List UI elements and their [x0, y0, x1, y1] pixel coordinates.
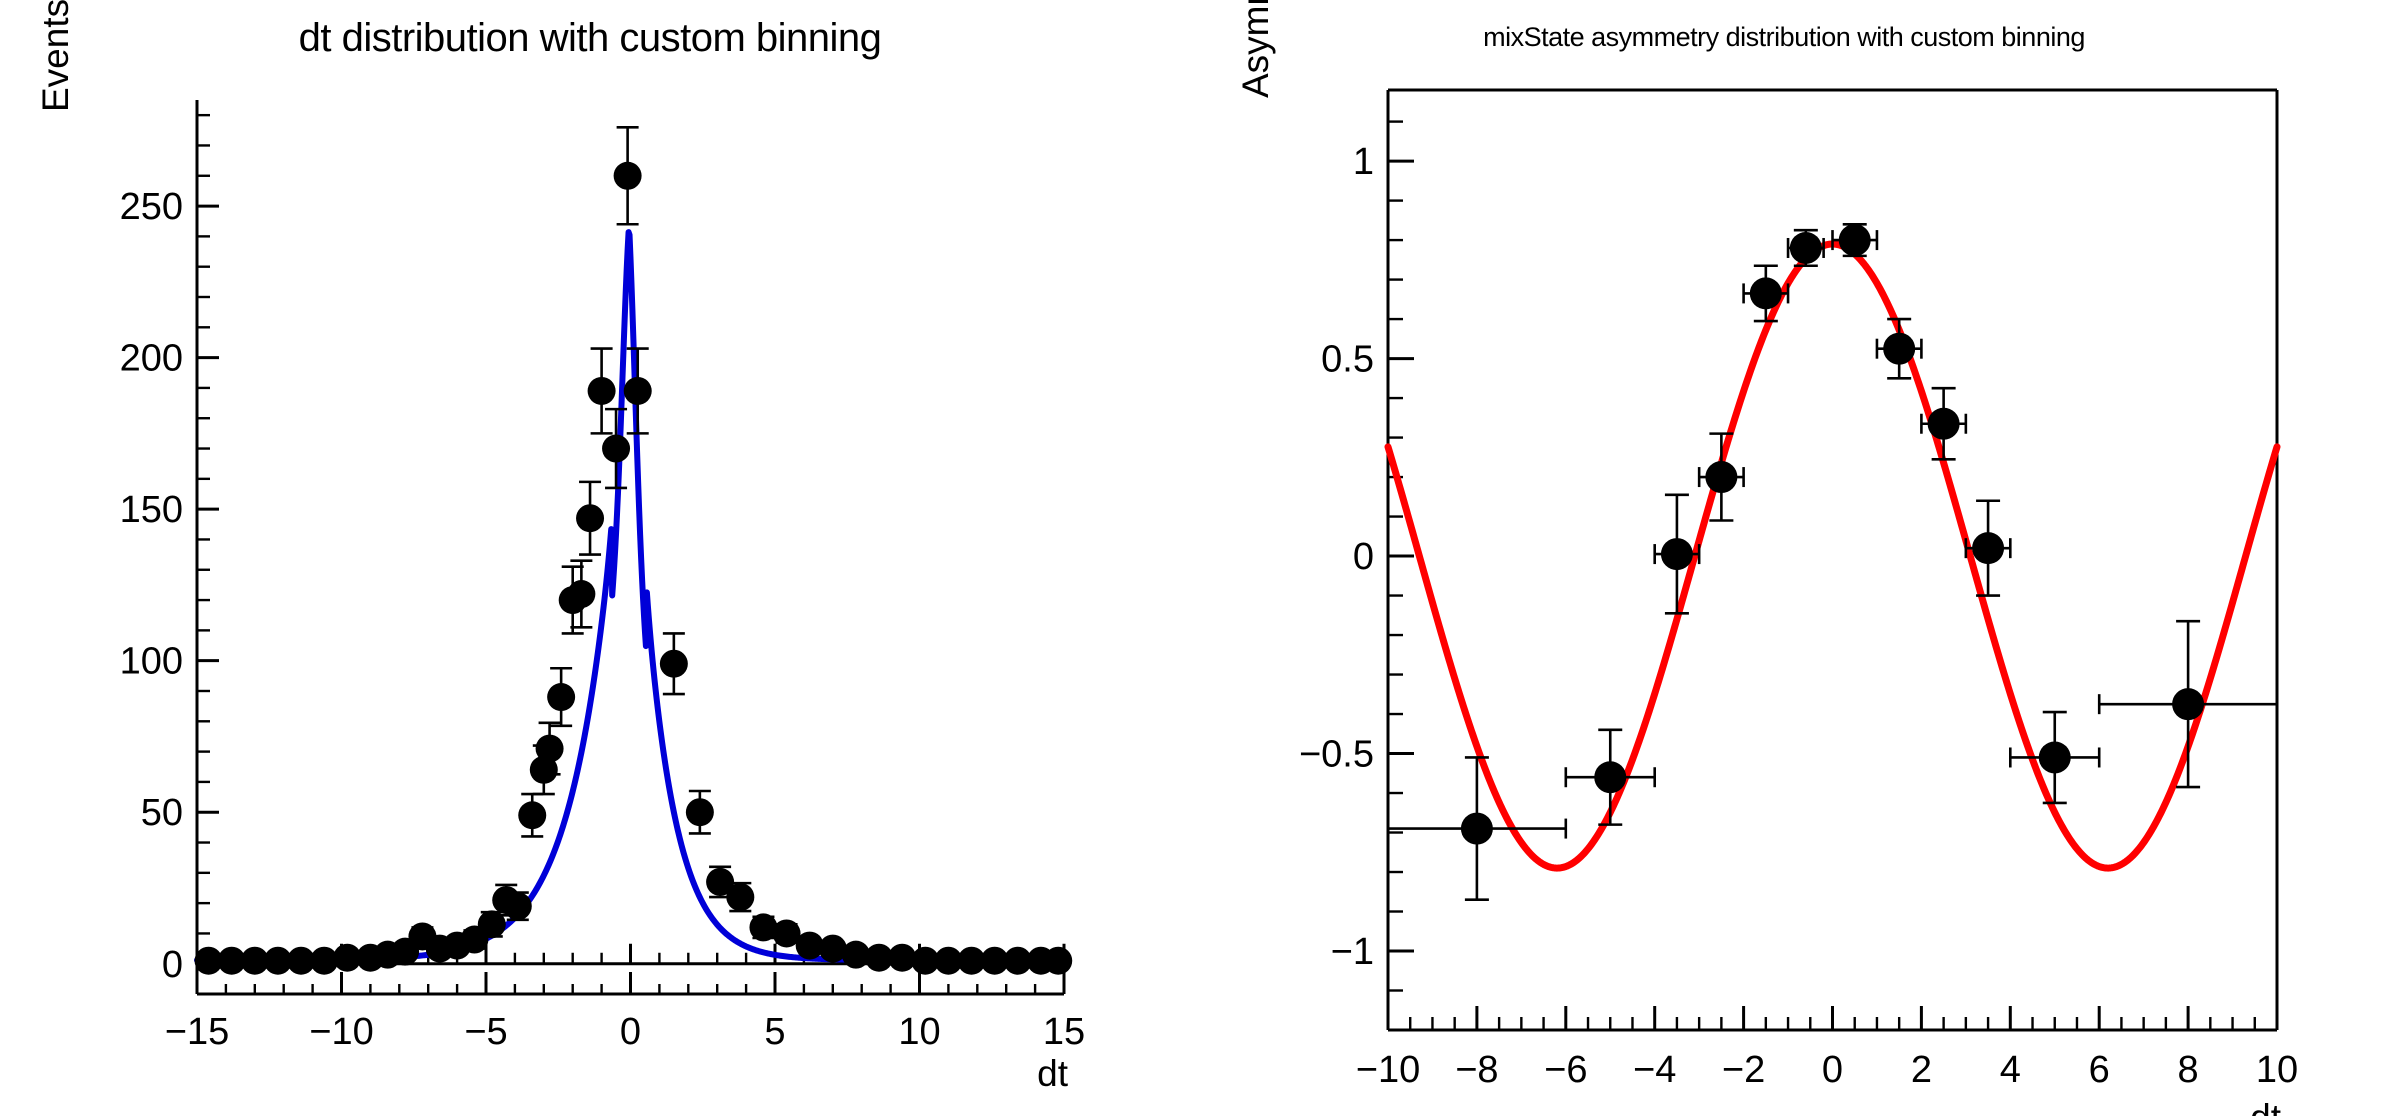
y-tick-label: 0: [162, 944, 183, 986]
data-point: [624, 349, 652, 434]
x-tick-label: −5: [464, 1011, 507, 1053]
x-tick-label: 2: [1911, 1049, 1932, 1091]
y-tick-label: 100: [120, 641, 183, 683]
x-tick-label: −10: [309, 1011, 373, 1053]
left-fit-curve: [197, 232, 1064, 960]
x-tick-label: 0: [620, 1011, 641, 1053]
data-point: [1788, 230, 1824, 266]
x-axis-title: dt: [2250, 1097, 2282, 1116]
data-point: [1388, 757, 1566, 899]
left-axis-labels: 050100150200250−15−10−5051015dtEvents / …: [35, 0, 1085, 1094]
data-point: [1833, 224, 1877, 256]
x-tick-label: −2: [1722, 1049, 1765, 1091]
y-tick-label: −1: [1331, 931, 1374, 973]
data-point: [588, 349, 616, 434]
x-tick-label: 0: [1822, 1049, 1843, 1091]
data-point: [518, 794, 546, 836]
x-tick-label: −10: [1356, 1049, 1420, 1091]
x-tick-label: 8: [2178, 1049, 2199, 1091]
dt-distribution-plot: 050100150200250−15−10−5051015dtEvents / …: [0, 0, 1180, 1116]
x-axis-title: dt: [1037, 1053, 1069, 1094]
x-tick-label: 4: [2000, 1049, 2021, 1091]
y-tick-label: 1: [1353, 141, 1374, 183]
data-point: [1921, 388, 1965, 459]
y-axis-title: Asymmetry in mixState: [1235, 0, 1276, 98]
y-tick-label: 150: [120, 489, 183, 531]
y-tick-label: 250: [120, 186, 183, 228]
mixstate-asymmetry-panel: mixState asymmetry distribution with cus…: [1180, 0, 2388, 1116]
left-data-points: [195, 127, 1073, 974]
data-point: [1744, 266, 1788, 321]
data-point: [547, 668, 575, 726]
x-tick-label: 10: [898, 1011, 940, 1053]
y-tick-label: 200: [120, 338, 183, 380]
right-data-points: [1388, 224, 2277, 900]
x-tick-label: −6: [1544, 1049, 1587, 1091]
x-tick-label: 6: [2089, 1049, 2110, 1091]
right-fit-curve: [1388, 244, 2277, 868]
data-point: [726, 883, 754, 911]
data-point: [686, 791, 714, 833]
data-point: [602, 409, 630, 488]
right-axis-labels: −1−0.500.51−10−8−6−4−20246810dtAsymmetry…: [1235, 0, 2298, 1116]
data-point: [2099, 621, 2277, 787]
data-point: [576, 482, 604, 555]
y-tick-label: 50: [141, 792, 183, 834]
x-tick-label: 10: [2256, 1049, 2298, 1091]
y-axis-title: Events / ( 0.4 ): [35, 0, 76, 112]
data-point: [614, 127, 642, 224]
data-point: [1966, 501, 2010, 596]
dt-distribution-panel: dt distribution with custom binning 0501…: [0, 0, 1180, 1116]
data-point: [1044, 947, 1072, 975]
data-point: [660, 633, 688, 694]
x-tick-label: 15: [1043, 1011, 1085, 1053]
y-tick-label: 0.5: [1321, 339, 1374, 381]
x-tick-label: 5: [764, 1011, 785, 1053]
data-point: [504, 892, 532, 920]
x-tick-label: −15: [165, 1011, 229, 1053]
data-point: [1655, 495, 1699, 613]
x-tick-label: −8: [1455, 1049, 1498, 1091]
x-tick-label: −4: [1633, 1049, 1676, 1091]
y-tick-label: 0: [1353, 536, 1374, 578]
y-tick-label: −0.5: [1299, 734, 1374, 776]
mixstate-asymmetry-plot: −1−0.500.51−10−8−6−4−20246810dtAsymmetry…: [1180, 0, 2388, 1116]
